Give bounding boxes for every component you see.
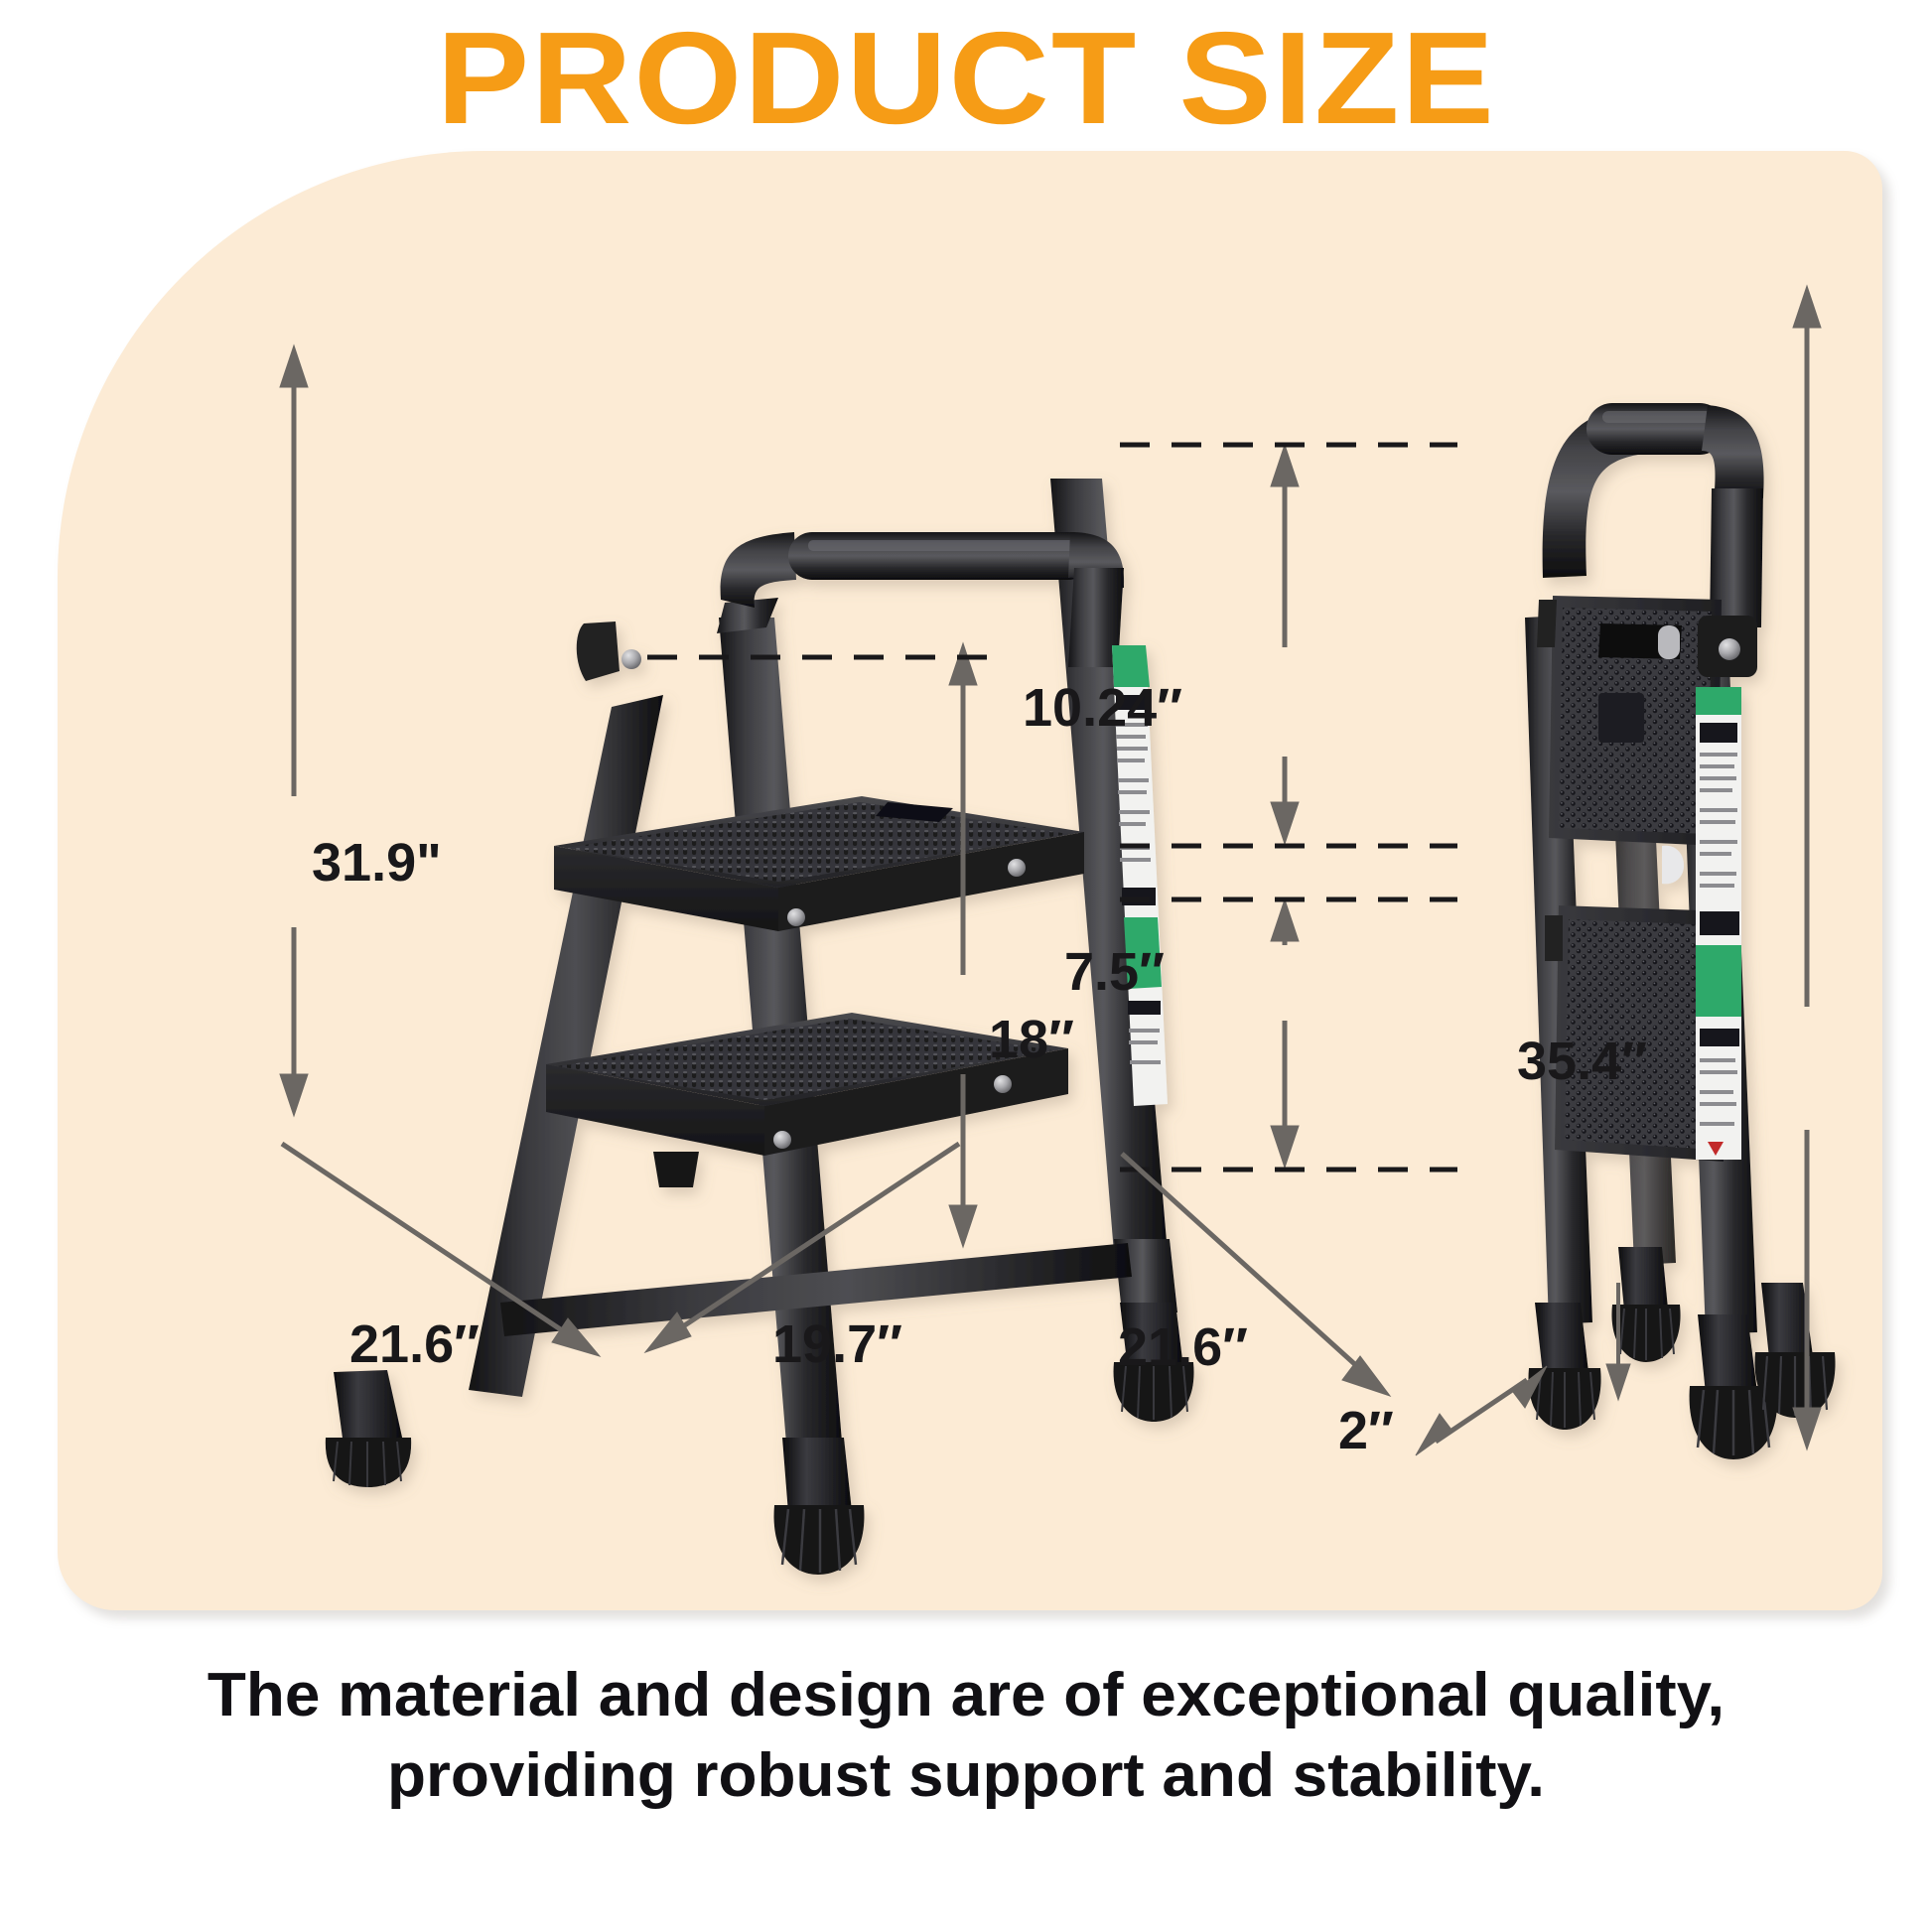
page-title: PRODUCT SIZE: [436, 13, 1495, 144]
dimension-10-24: 10.24″: [1023, 681, 1182, 735]
page-title-bar: PRODUCT SIZE: [0, 14, 1932, 143]
dimension-7-5: 7.5″: [1064, 945, 1165, 999]
dimension-line-2: [1416, 1366, 1547, 1455]
dimension-line-18: [949, 643, 977, 1247]
dimension-line-31-9: [280, 345, 308, 1116]
dimension-35-4: 35.4″: [1517, 1035, 1647, 1088]
caption-line-2: providing robust support and stability.: [0, 1736, 1932, 1817]
folded-ladder-illustration: [1525, 403, 1836, 1459]
safety-label-folded: [1696, 687, 1741, 1160]
caption-line-1: The material and design are of exception…: [0, 1656, 1932, 1736]
dimension-21-6-right: 21.6″: [1118, 1320, 1248, 1374]
dimension-31-9: 31.9": [312, 836, 442, 890]
folded-upper-step: [1537, 596, 1722, 846]
product-caption: The material and design are of exception…: [0, 1656, 1932, 1816]
dimension-18: 18″: [989, 1013, 1074, 1066]
product-size-card: 31.9" 18″ 21.6″ 19.7″ 10.24″ 7.5″ 35.4″ …: [58, 151, 1882, 1610]
dimension-2: 2″: [1338, 1404, 1394, 1457]
dimension-21-6-left: 21.6″: [349, 1317, 480, 1371]
dimension-line-35-4: [1793, 286, 1821, 1449]
dimension-line-10-24: [1271, 445, 1299, 844]
dimension-19-7: 19.7″: [772, 1317, 902, 1371]
